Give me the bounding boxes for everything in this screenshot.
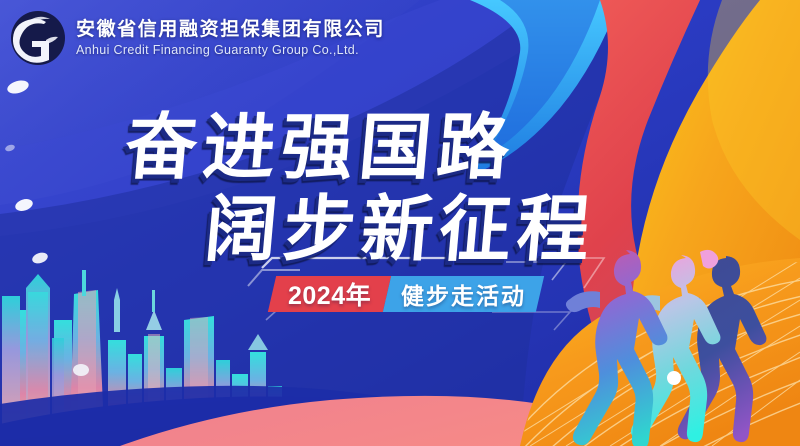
brand-lockup: 安徽省信用融资担保集团有限公司 Anhui Credit Financing G… (10, 10, 385, 66)
company-name-en: Anhui Credit Financing Guaranty Group Co… (76, 44, 385, 57)
company-name-cn: 安徽省信用融资担保集团有限公司 (76, 20, 385, 39)
banner-activity-segment: 健步走活动 (383, 276, 544, 312)
banner-year-label: 2024年 (288, 276, 371, 312)
moon (73, 364, 89, 376)
poster-canvas: 安徽省信用融资担保集团有限公司 Anhui Credit Financing G… (0, 0, 800, 446)
company-logo (10, 10, 66, 66)
event-banner: 2024年 健步走活动 (268, 276, 544, 312)
poster-artwork (0, 0, 800, 446)
brand-text-block: 安徽省信用融资担保集团有限公司 Anhui Credit Financing G… (76, 20, 385, 57)
banner-activity-label: 健步走活动 (401, 277, 526, 311)
banner-year-segment: 2024年 (268, 276, 391, 312)
